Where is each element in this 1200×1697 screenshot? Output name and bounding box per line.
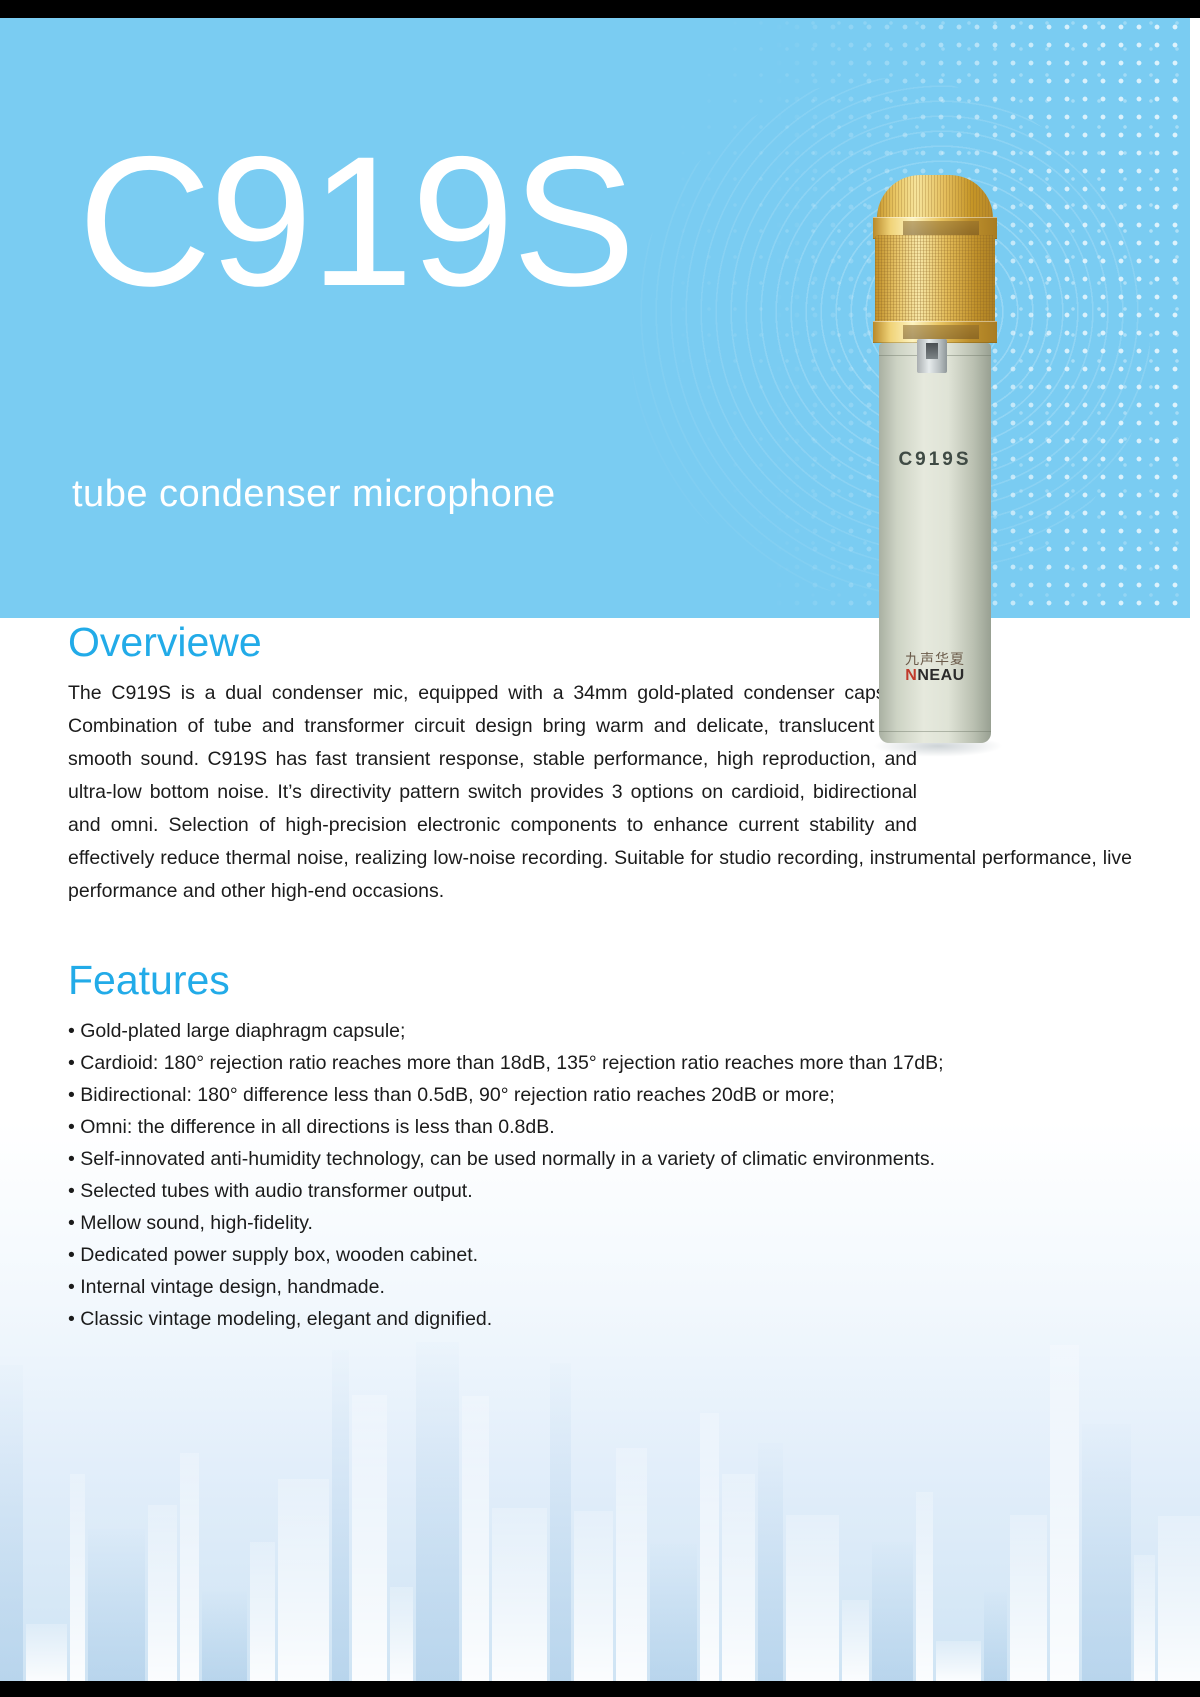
skyline-building xyxy=(984,1592,1007,1681)
feature-item: • Self-innovated anti-humidity technolog… xyxy=(68,1143,1132,1175)
product-title: C919S xyxy=(78,130,634,315)
features-heading: Features xyxy=(68,960,1200,1001)
mic-brand-rest: NEAU xyxy=(917,667,964,684)
product-subtitle: tube condenser microphone xyxy=(72,473,556,516)
skyline-building xyxy=(1082,1424,1131,1681)
feature-item: • Mellow sound, high-fidelity. xyxy=(68,1207,1132,1239)
top-black-bar xyxy=(0,0,1200,18)
skyline-building xyxy=(332,1350,349,1681)
feature-item: • Selected tubes with audio transformer … xyxy=(68,1175,1132,1207)
bottom-black-bar xyxy=(0,1681,1200,1697)
mic-brand-chinese: 九声华夏 xyxy=(865,649,1005,669)
skyline-building xyxy=(180,1453,199,1681)
skyline-building xyxy=(722,1474,755,1681)
mic-connector xyxy=(917,339,947,373)
skyline-building xyxy=(462,1396,489,1681)
feature-item: • Classic vintage modeling, elegant and … xyxy=(68,1303,1132,1335)
feature-item: • Gold-plated large diaphragm capsule; xyxy=(68,1015,1132,1047)
overview-section: Overviewe The C919S is a dual condenser … xyxy=(0,622,1200,908)
feature-item: • Bidirectional: 180° difference less th… xyxy=(68,1079,1132,1111)
skyline-building xyxy=(250,1542,275,1681)
skyline-building xyxy=(616,1448,647,1681)
skyline-building xyxy=(872,1542,913,1681)
feature-item: • Internal vintage design, handmade. xyxy=(68,1271,1132,1303)
skyline-building xyxy=(492,1508,547,1681)
skyline-building xyxy=(1050,1345,1079,1681)
skyline-building xyxy=(936,1641,981,1681)
mic-band-inset xyxy=(903,221,979,235)
mic-brand-initial: N xyxy=(905,667,917,684)
mic-grille-main xyxy=(875,235,995,323)
features-section: Features • Gold-plated large diaphragm c… xyxy=(0,960,1200,1335)
skyline-building xyxy=(650,1544,697,1681)
mic-body-seam xyxy=(879,731,991,732)
feature-item: • Cardioid: 180° rejection ratio reaches… xyxy=(68,1047,1132,1079)
skyline-building xyxy=(0,1365,23,1682)
skyline-building xyxy=(26,1624,67,1681)
skyline-building xyxy=(916,1492,933,1681)
skyline-building xyxy=(202,1591,247,1681)
skyline-building xyxy=(700,1413,719,1681)
skyline-building xyxy=(148,1505,177,1681)
skyline-building xyxy=(278,1479,329,1681)
skyline-building xyxy=(574,1511,613,1681)
overview-heading: Overviewe xyxy=(68,622,1200,663)
skyline-building xyxy=(786,1515,839,1681)
datasheet-page: C919S tube condenser microphone C919S 九声… xyxy=(0,0,1200,1697)
feature-item: • Dedicated power supply box, wooden cab… xyxy=(68,1239,1132,1271)
skyline-building xyxy=(1134,1555,1155,1681)
content-area: Overviewe The C919S is a dual condenser … xyxy=(0,618,1200,1335)
skyline-building xyxy=(390,1587,413,1681)
mic-grille-top xyxy=(877,175,993,223)
mic-connector-pin xyxy=(926,343,938,359)
features-list: • Gold-plated large diaphragm capsule;• … xyxy=(68,1015,1132,1335)
skyline-building xyxy=(550,1363,571,1681)
skyline-building xyxy=(70,1474,85,1681)
mic-model-label: C919S xyxy=(865,449,1005,471)
skyline-building xyxy=(352,1395,387,1681)
skyline-building xyxy=(1010,1515,1047,1681)
mic-brand-english: NNEAU xyxy=(865,667,1005,685)
mic-band-inset xyxy=(903,325,979,339)
skyline-building xyxy=(88,1529,145,1681)
skyline-building xyxy=(1158,1516,1200,1681)
feature-item: • Omni: the difference in all directions… xyxy=(68,1111,1132,1143)
hero-header-band: C919S tube condenser microphone xyxy=(0,18,1190,618)
skyline-building xyxy=(758,1443,783,1681)
skyline-building xyxy=(416,1342,459,1681)
microphone-product-image: C919S 九声华夏 NNEAU xyxy=(865,175,1005,765)
skyline-building xyxy=(842,1600,869,1681)
